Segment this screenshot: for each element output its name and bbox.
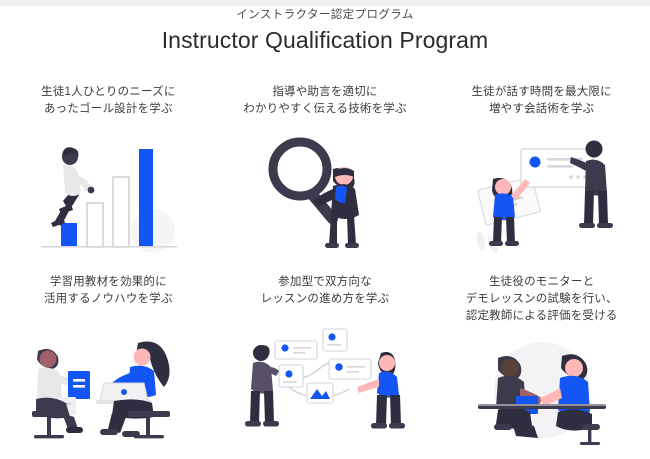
stool-base-left bbox=[34, 435, 64, 438]
caption-line: 生徒役のモニターと bbox=[466, 274, 618, 291]
card-line-2 bbox=[547, 165, 573, 168]
caption-line: あったゴール設計を学ぶ bbox=[41, 101, 175, 118]
person-right-head bbox=[379, 355, 395, 371]
page-title: Instructor Qualification Program bbox=[0, 25, 650, 55]
node-card-4-dot bbox=[336, 363, 344, 371]
node-card-2-line-1 bbox=[293, 347, 311, 349]
caption-line: デモレッスンの試験を行い、 bbox=[466, 291, 618, 308]
book-line-1 bbox=[73, 379, 85, 382]
person-left-leg-2 bbox=[264, 391, 274, 423]
person-left-shoe-1 bbox=[245, 421, 261, 427]
bar-2-white bbox=[87, 203, 103, 247]
node-card-4-line-1 bbox=[347, 366, 365, 368]
person-left-leg-1 bbox=[250, 391, 260, 423]
card-avatar-dot bbox=[530, 157, 541, 168]
person-right-shoe-2 bbox=[597, 223, 613, 228]
bar-3-white bbox=[113, 177, 129, 247]
seated-learners-svg bbox=[18, 325, 198, 445]
person-right-leg-1 bbox=[376, 395, 387, 425]
node-card-3-line bbox=[283, 381, 297, 383]
node-card-2-dot bbox=[282, 344, 289, 351]
person-shirt-accent bbox=[335, 186, 347, 203]
handshake-svg bbox=[454, 336, 629, 448]
stool-post-right bbox=[146, 417, 150, 437]
bar-4-blue bbox=[139, 149, 153, 247]
caption-line: 学習用教材を効果的に bbox=[44, 274, 173, 291]
person-right-leg-1 bbox=[584, 191, 594, 225]
person-right-head bbox=[565, 359, 583, 377]
person-left-leg-2 bbox=[506, 217, 515, 243]
bar-1-blue bbox=[61, 223, 77, 247]
person-right-arm bbox=[357, 379, 379, 393]
feature-card: 生徒役のモニターと デモレッスンの試験を行い、 認定教師による評価を受ける bbox=[433, 268, 650, 458]
bar-chart-climb-svg bbox=[33, 131, 183, 259]
feature-caption: 指導や助言を適切に わかりやすく伝える技術を学ぶ bbox=[237, 78, 412, 122]
person-book-head bbox=[40, 351, 57, 368]
page-header: インストラクター認定プログラム Instructor Qualification… bbox=[0, 6, 650, 55]
person-book-torso bbox=[37, 368, 62, 402]
node-card-upper-left bbox=[275, 341, 317, 359]
person-left-torso bbox=[493, 193, 515, 220]
magnifier-lens bbox=[273, 142, 327, 196]
feature-caption: 生徒役のモニターと デモレッスンの試験を行い、 認定教師による評価を受ける bbox=[460, 268, 624, 325]
feature-card: 参加型で双方向な レッスンの進め方を学ぶ bbox=[217, 268, 434, 458]
person-shoe-right bbox=[345, 243, 359, 248]
caption-line: わかりやすく伝える技術を学ぶ bbox=[243, 101, 406, 118]
stool-post-left bbox=[47, 417, 51, 437]
feature-caption: 学習用教材を効果的に 活用するノウハウを学ぶ bbox=[38, 268, 179, 312]
header-kicker: インストラクター認定プログラム bbox=[0, 8, 650, 22]
person-hand bbox=[88, 187, 95, 194]
seated-person-book bbox=[32, 349, 90, 438]
node-card-3-dot bbox=[286, 370, 293, 377]
card-dot-2 bbox=[576, 175, 580, 179]
node-card-right bbox=[329, 359, 371, 379]
person-left-figure bbox=[245, 345, 279, 427]
book-line-2 bbox=[73, 385, 85, 388]
caption-line: 認定教師による評価を受ける bbox=[466, 308, 618, 325]
laptop-logo bbox=[121, 389, 127, 395]
ground-line bbox=[41, 246, 177, 248]
feature-caption: 生徒が話す時間を最大限に 増やす会話術を学ぶ bbox=[465, 78, 617, 122]
node-card-5 bbox=[307, 383, 333, 403]
leaf-left bbox=[477, 231, 486, 251]
node-card-left bbox=[279, 365, 303, 387]
caption-line: 活用するノウハウを学ぶ bbox=[44, 291, 173, 308]
illustration-two-people-seated-book-and-laptop bbox=[0, 312, 217, 458]
node-card-image bbox=[307, 383, 333, 403]
feature-card: 生徒1人ひとりのニーズに あったゴール設計を学ぶ bbox=[0, 78, 217, 268]
person-left-seat bbox=[494, 424, 512, 430]
person-right-shoe-1 bbox=[579, 223, 595, 228]
page-root: インストラクター認定プログラム Instructor Qualification… bbox=[0, 0, 650, 459]
person-left-shoe-1 bbox=[489, 241, 503, 246]
node-card-2 bbox=[275, 341, 317, 359]
person-laptop-shoe-1 bbox=[100, 429, 118, 435]
person-right-stool-base bbox=[580, 442, 600, 445]
caption-line: レッスンの進め方を学ぶ bbox=[261, 291, 390, 308]
node-card-top-right bbox=[323, 329, 347, 351]
node-card-4 bbox=[329, 359, 371, 379]
person-left-torso bbox=[251, 362, 273, 394]
person-right-stool-post bbox=[588, 428, 591, 444]
card-dot-1 bbox=[569, 175, 573, 179]
stool-seat-right bbox=[128, 411, 170, 417]
feature-grid: 生徒1人ひとりのニーズに あったゴール設計を学ぶ bbox=[0, 78, 650, 458]
person-left-shoe-2 bbox=[505, 241, 519, 246]
caption-line: 生徒が話す時間を最大限に bbox=[471, 84, 611, 101]
person-right-shoe-2 bbox=[389, 423, 405, 429]
person-book-shoe bbox=[66, 427, 83, 433]
person-right-leg-2 bbox=[598, 191, 608, 225]
node-card-1 bbox=[323, 329, 347, 351]
connected-cards-svg bbox=[237, 325, 412, 445]
illustration-two-people-connected-cards bbox=[217, 312, 434, 458]
table-highlight bbox=[478, 404, 606, 406]
illustration-person-with-magnifying-glass bbox=[217, 122, 434, 268]
person-left-leg-1 bbox=[493, 217, 502, 243]
node-card-1-dot bbox=[329, 333, 336, 340]
person-leg-right bbox=[347, 215, 356, 245]
stool-seat-left bbox=[32, 411, 68, 417]
feature-card: 指導や助言を適切に わかりやすく伝える技術を学ぶ bbox=[217, 78, 434, 268]
magnifier-person-svg bbox=[255, 131, 395, 259]
person-shoe-left bbox=[325, 243, 339, 248]
caption-line: 生徒1人ひとりのニーズに bbox=[41, 84, 175, 101]
node-card-1-line bbox=[327, 344, 341, 346]
person-left-head bbox=[495, 179, 511, 195]
caption-line: 増やす会話術を学ぶ bbox=[471, 101, 611, 118]
person-right-shoe-1 bbox=[371, 423, 387, 429]
feature-card: 生徒が話す時間を最大限に 増やす会話術を学ぶ bbox=[433, 78, 650, 268]
caption-line: 参加型で双方向な bbox=[261, 274, 390, 291]
illustration-person-climbing-bar-chart bbox=[0, 122, 217, 268]
illustration-two-people-with-message-cards bbox=[433, 122, 650, 268]
node-card-4-line-2 bbox=[347, 371, 359, 373]
feature-card: 学習用教材を効果的に 活用するノウハウを学ぶ bbox=[0, 268, 217, 458]
person-right-torso bbox=[585, 160, 607, 196]
message-cards-svg bbox=[459, 131, 624, 259]
caption-line: 指導や助言を適切に bbox=[243, 84, 406, 101]
seated-person-laptop bbox=[96, 342, 170, 439]
feature-caption: 生徒1人ひとりのニーズに あったゴール設計を学ぶ bbox=[35, 78, 181, 122]
feature-caption: 参加型で双方向な レッスンの進め方を学ぶ bbox=[255, 268, 396, 312]
person-right-leg-2 bbox=[390, 395, 401, 425]
stool-base-right bbox=[134, 435, 164, 438]
person-left-head bbox=[501, 359, 519, 377]
node-card-2-line-2 bbox=[293, 352, 305, 354]
person-right-head bbox=[586, 141, 603, 158]
magnifying-glass-icon bbox=[273, 142, 340, 226]
illustration-two-people-handshake-at-table bbox=[433, 325, 650, 458]
person-left-shoe-2 bbox=[263, 421, 279, 427]
person-right-torso bbox=[377, 372, 399, 398]
person-laptop-head bbox=[134, 349, 151, 366]
